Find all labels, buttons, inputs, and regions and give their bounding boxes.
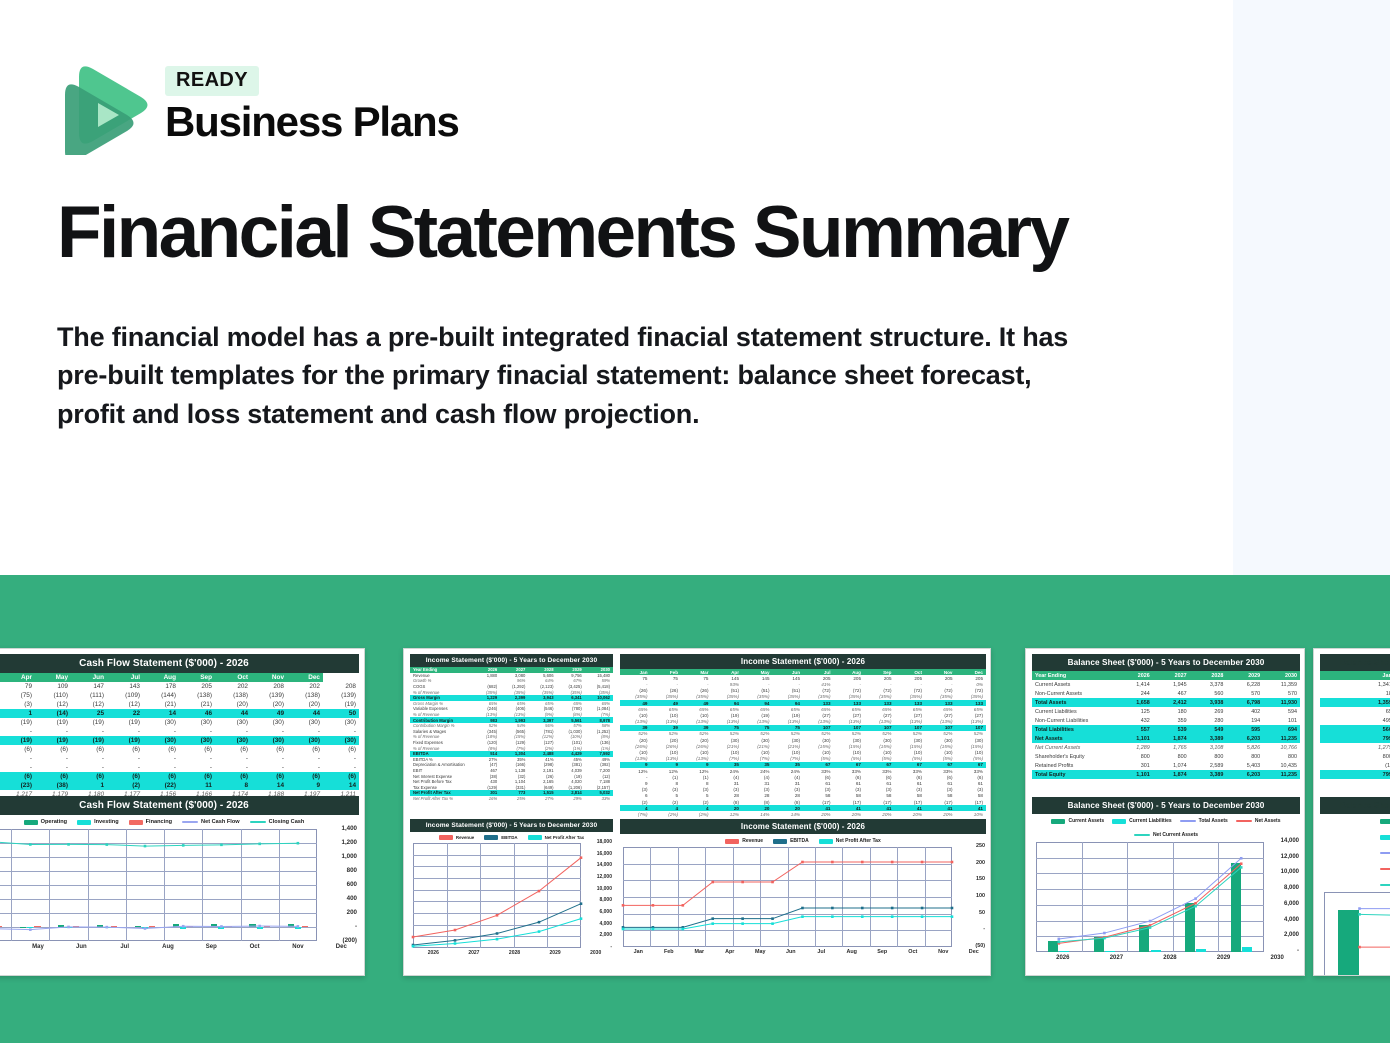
legend-swatch	[484, 835, 498, 840]
x-axis-tick-label: 2030	[1250, 955, 1304, 961]
y-axis-tick-label: 600	[320, 881, 357, 888]
legend-item: Net Cash Flow	[182, 819, 240, 825]
income-2026-chart-legend: RevenueEBITDANet Profit After Tax	[620, 838, 986, 844]
page-subtitle: The financial model has a pre-built inte…	[57, 318, 1087, 433]
x-axis-tick-label: 2029	[535, 950, 576, 956]
x-axis-tick-label: 2029	[1197, 955, 1251, 961]
legend-swatch	[129, 820, 143, 825]
y-axis-tick-label: 8,000	[584, 897, 612, 903]
y-axis-tick-label: 4,000	[584, 921, 612, 927]
y-axis-tick-label: 50	[955, 910, 985, 916]
balance-table-title: Balance Sheet ($'000) - 5 Years to Decem…	[1032, 654, 1300, 671]
x-axis-tick-label: Dec	[320, 944, 363, 950]
legend-swatch	[1380, 819, 1390, 824]
legend-swatch	[24, 820, 38, 825]
balance-monthly-chart-title: Balance Sheet ($'000) - 2026	[1320, 797, 1390, 814]
legend-label: EBITDA	[501, 835, 517, 840]
balance-monthly-chart-plot	[1324, 892, 1390, 976]
legend-item: Net Assets	[1380, 866, 1390, 872]
legend-swatch	[1380, 835, 1390, 840]
balance-chart-legend: Current AssetsCurrent LiabilitiesTotal A…	[1032, 818, 1300, 838]
table-header-row: JanFeb	[1320, 671, 1390, 680]
brand-name: Business Plans	[165, 100, 459, 144]
x-axis-tick-label: 2026	[1036, 955, 1090, 961]
y-axis-tick-label: 400	[320, 895, 357, 902]
legend-item: Net Current Assets	[1134, 832, 1198, 838]
legend-swatch	[1112, 819, 1126, 824]
x-axis-tick-label: Nov	[276, 944, 319, 950]
income-2026-x-axis-labels: JanFebMarAprMayJunJulAugSepOctNovDec	[623, 949, 989, 955]
x-axis-tick-label: Oct	[233, 944, 276, 950]
y-axis-tick-label: -	[320, 923, 357, 930]
income-statement-screenshot-card[interactable]: Income Statement ($'000) - 5 Years to De…	[403, 648, 991, 976]
x-axis-tick-label: 2028	[1143, 955, 1197, 961]
legend-swatch	[773, 839, 787, 844]
legend-item: Revenue	[725, 838, 763, 844]
table-row: 495480	[1320, 716, 1390, 725]
x-axis-tick-label: Jul	[806, 949, 837, 955]
y-axis-tick-label: 1,400	[320, 825, 357, 832]
y-axis-tick-label: (200)	[320, 937, 357, 944]
legend-item: Current Liabilities	[1112, 818, 1172, 824]
income-5yr-chart-legend: RevenueEBITDANet Profit After Tax	[410, 835, 613, 840]
table-row: 1836	[1320, 689, 1390, 698]
balance-monthly-table-title: Balance Sheet ($'000) - 2026	[1320, 654, 1390, 671]
table-row: 6572	[1320, 707, 1390, 716]
y-axis-tick-label: 14,000	[584, 862, 612, 868]
table-row: 79109147143178205202208202208	[0, 682, 359, 691]
legend-label: Net Current Assets	[1153, 832, 1198, 838]
x-axis-tick-label: May	[745, 949, 776, 955]
x-axis-tick-label: Mar	[684, 949, 715, 955]
income-5yr-x-axis-labels: 20262027202820292030	[413, 950, 616, 956]
table-row: 1(14)2522144644494450	[0, 709, 359, 718]
y-axis-tick-label: 6,000	[1267, 901, 1299, 907]
x-axis-tick-label: Jun	[60, 944, 103, 950]
legend-swatch	[1051, 819, 1065, 824]
x-axis-tick-label: Feb	[654, 949, 685, 955]
chart-series-lines	[0, 829, 317, 941]
table-row: ----------	[0, 727, 359, 736]
legend-swatch	[182, 821, 198, 823]
table-row: (75)(110)(111)(109)(144)(138)(138)(139)(…	[0, 691, 359, 700]
legend-item: Closing Cash	[250, 819, 305, 825]
balance-x-axis-labels: 20262027202820292030	[1036, 955, 1304, 961]
y-axis-tick-label: 6,000	[584, 909, 612, 915]
y-axis-tick-label: 200	[320, 909, 357, 916]
hero-section: READY Business Plans Financial Statement…	[0, 0, 1390, 575]
x-axis-tick-label: Sep	[867, 949, 898, 955]
x-axis-tick-label: Apr	[0, 944, 16, 950]
income2026-chart-title: Income Statement ($'000) - 2026	[620, 819, 986, 834]
legend-item: EBITDA	[773, 838, 809, 844]
table-row: Total Equity1,1011,8743,3896,20311,235	[1032, 770, 1300, 779]
table-row: 800800	[1320, 752, 1390, 761]
income-2026-table: JanFebMarAprMayJunJulAugSepOctNovDec7575…	[620, 669, 986, 818]
x-axis-tick-label: Apr	[715, 949, 746, 955]
legend-label: Total Assets	[1199, 818, 1228, 824]
legend-item: Financing	[129, 819, 172, 825]
legend-label: Net Profit After Tax	[545, 835, 585, 840]
cash-flow-table: AprMayJunJulAugSepOctNovDec7910914714317…	[0, 673, 359, 799]
x-axis-tick-label: Jul	[103, 944, 146, 950]
balance-chart-plot: 14,00012,00010,0008,0006,0004,0002,000-	[1036, 842, 1264, 952]
table-header-row: AprMayJunJulAugSepOctNovDec	[0, 673, 359, 682]
table-row: 560561	[1320, 725, 1390, 734]
legend-label: Financing	[146, 819, 172, 825]
balance-sheet-table: Year Ending20262027202820292030Current A…	[1032, 671, 1300, 779]
legend-swatch	[1380, 884, 1390, 886]
brand-text: READY Business Plans	[165, 66, 459, 144]
legend-swatch	[250, 821, 266, 823]
cash-flow-chart-plot: 1,4001,2001,000800600400200-(200)	[0, 829, 317, 941]
y-axis-tick-label: 10,000	[1267, 869, 1299, 875]
x-axis-tick-label: Aug	[146, 944, 189, 950]
legend-item: Net Profit After Tax	[528, 835, 585, 840]
page-title: Financial Statements Summary	[57, 196, 1067, 269]
x-axis-tick-label: 2026	[413, 950, 454, 956]
legend-label: Net Cash Flow	[201, 819, 240, 825]
table-row: 1,3411,323	[1320, 680, 1390, 689]
legend-item: Net Current Assets	[1380, 882, 1390, 888]
x-axis-tick-label: Oct	[898, 949, 929, 955]
table-row: (1)(2)	[1320, 761, 1390, 770]
table-row: Non-Current Liabilities432359280194101	[1032, 716, 1300, 725]
table-row: 1,3591,359	[1320, 698, 1390, 707]
legend-label: Net Profit After Tax	[836, 838, 881, 844]
y-axis-tick-label: 2,000	[1267, 932, 1299, 938]
balance-sheet-screenshot-card[interactable]: Balance Sheet ($'000) - 5 Years to Decem…	[1025, 648, 1305, 976]
brand-logo-block: READY Business Plans	[57, 55, 459, 155]
legend-item: EBITDA	[484, 835, 517, 840]
legend-swatch	[439, 835, 453, 840]
legend-item: Net Profit After Tax	[819, 838, 881, 844]
play-triangle-logo-icon	[57, 55, 149, 155]
legend-swatch	[1380, 868, 1390, 870]
legend-item: Total Assets	[1180, 818, 1228, 824]
table-row: (23)(38)1(2)(22)11814914	[0, 781, 359, 790]
table-row: 799798	[1320, 770, 1390, 779]
legend-item: Current Liabilities	[1380, 834, 1390, 840]
table-row: Shareholder's Equity800800800800800	[1032, 752, 1300, 761]
table-row: Non-Current Assets244467560570570	[1032, 689, 1300, 698]
balance-monthly-table: JanFeb1,3411,32318361,3591,3596572495480…	[1320, 671, 1390, 779]
y-axis-tick-label: 8,000	[1267, 885, 1299, 891]
legend-swatch	[819, 839, 833, 844]
x-axis-tick-label: 2027	[454, 950, 495, 956]
table-row: ----------	[0, 763, 359, 772]
table-row: Net Assets1,1011,8743,3896,20311,235	[1032, 734, 1300, 743]
table-row: Total Assets1,6582,4123,9386,79811,930	[1032, 698, 1300, 707]
legend-swatch	[1380, 852, 1390, 854]
table-row: Net Current Assets1,2891,7653,1085,82610…	[1032, 743, 1300, 752]
legend-label: Revenue	[742, 838, 763, 844]
y-axis-tick-label: 16,000	[584, 851, 612, 857]
legend-label: Net Assets	[1255, 818, 1281, 824]
x-axis-tick-label: 2030	[575, 950, 616, 956]
chart-series-lines	[1324, 892, 1390, 976]
y-axis-tick-label: 4,000	[1267, 917, 1299, 923]
legend-label: Closing Cash	[269, 819, 305, 825]
table-row: (6)(6)(6)(6)(6)(6)(6)(6)(6)(6)	[0, 745, 359, 754]
x-axis-tick-label: 2027	[1090, 955, 1144, 961]
table-row: (7%)(2%)(2%)12%14%14%20%20%20%20%20%10%	[620, 811, 986, 817]
income2026-table-title: Income Statement ($'000) - 2026	[620, 654, 986, 669]
balance-monthly-chart-legend: Current AssetsCurrent LiabilitiesTotal A…	[1320, 818, 1390, 888]
legend-item: Investing	[77, 819, 119, 825]
y-axis-tick-label: 1,200	[320, 839, 357, 846]
x-axis-tick-label: May	[16, 944, 59, 950]
table-row: 799798	[1320, 734, 1390, 743]
table-row: Net Profit After Tax %16%25%27%29%33%	[410, 796, 613, 802]
legend-item: Net Assets	[1236, 818, 1281, 824]
legend-label: EBITDA	[790, 838, 809, 844]
table-header-row: Year Ending20262027202820292030	[1032, 671, 1300, 680]
cash-flow-chart-legend: OperatingInvestingFinancingNet Cash Flow…	[0, 819, 359, 825]
legend-swatch	[1180, 820, 1196, 822]
legend-swatch	[528, 835, 542, 840]
x-axis-tick-label: Sep	[190, 944, 233, 950]
table-row: Total Liabilities557539549595694	[1032, 725, 1300, 734]
table-row: Retained Profits3011,0742,5895,40310,435	[1032, 761, 1300, 770]
y-axis-tick-label: -	[1267, 948, 1299, 954]
table-row: ----------	[0, 754, 359, 763]
table-row: (19)(19)(19)(19)(30)(30)(30)(30)(30)(30)	[0, 718, 359, 727]
table-row: (6)(6)(6)(6)(6)(6)(6)(6)(6)(6)	[0, 772, 359, 781]
x-axis-tick-label: Aug	[837, 949, 868, 955]
cashflow-chart-title: Cash Flow Statement ($'000) - 2026	[0, 796, 359, 815]
legend-label: Operating	[41, 819, 67, 825]
y-axis-tick-label: 12,000	[1267, 854, 1299, 860]
balance-sheet-monthly-screenshot-card[interactable]: Balance Sheet ($'000) - 2026 JanFeb1,341…	[1313, 648, 1390, 976]
y-axis-tick-label: 14,000	[1267, 838, 1299, 844]
y-axis-tick-label: 800	[320, 867, 357, 874]
legend-swatch	[1134, 834, 1150, 836]
y-axis-tick-label: 18,000	[584, 839, 612, 845]
income5-chart-title: Income Statement ($'000) - 5 Years to De…	[410, 819, 613, 832]
legend-swatch	[1236, 820, 1252, 822]
table-row: (19)(19)(19)(19)(30)(30)(30)(30)(30)(30)	[0, 736, 359, 745]
y-axis-tick-label: 1,000	[320, 853, 357, 860]
legend-label: Current Liabilities	[1129, 818, 1172, 824]
income-5yr-table: Year Ending20262027202820292030Revenue1,…	[410, 667, 613, 801]
chart-series-lines	[1036, 842, 1264, 952]
income-2026-chart-plot: 25020015010050-(50)	[623, 847, 952, 947]
legend-label: Current Assets	[1068, 818, 1104, 824]
table-row: (3)(12)(12)(12)(21)(21)(20)(20)(20)(19)	[0, 700, 359, 709]
y-axis-tick-label: 12,000	[584, 874, 612, 880]
y-axis-tick-label: 200	[955, 860, 985, 866]
legend-item: Current Assets	[1051, 818, 1104, 824]
screenshot-cards-strip: Cash Flow Statement ($'000) - 2026 AprMa…	[0, 648, 1390, 976]
table-row: Current Liabilities125180269402594	[1032, 707, 1300, 716]
legend-item: Operating	[24, 819, 67, 825]
x-axis-tick-label: Jun	[776, 949, 807, 955]
y-axis-tick-label: 250	[955, 843, 985, 849]
x-axis-tick-label: 2028	[494, 950, 535, 956]
legend-item: Revenue	[439, 835, 474, 840]
x-axis-tick-label: Dec	[959, 949, 990, 955]
balance-chart-title: Balance Sheet ($'000) - 5 Years to Decem…	[1032, 797, 1300, 814]
legend-label: Revenue	[456, 835, 474, 840]
ready-badge: READY	[165, 66, 259, 96]
y-axis-tick-label: 150	[955, 876, 985, 882]
income5-table-title: Income Statement ($'000) - 5 Years to De…	[410, 654, 613, 667]
legend-item: Total Assets	[1380, 850, 1390, 856]
legend-swatch	[725, 839, 739, 844]
x-axis-tick-label: Nov	[928, 949, 959, 955]
chart-series-lines	[623, 847, 952, 947]
cash-flow-x-axis-labels: AprMayJunJulAugSepOctNovDec	[0, 944, 363, 950]
y-axis-tick-label: 10,000	[584, 886, 612, 892]
cashflow-table-title: Cash Flow Statement ($'000) - 2026	[0, 654, 359, 673]
table-row: 1,2751,251	[1320, 743, 1390, 752]
cash-flow-screenshot-card[interactable]: Cash Flow Statement ($'000) - 2026 AprMa…	[0, 648, 365, 976]
y-axis-tick-label: 2,000	[584, 932, 612, 938]
legend-label: Investing	[94, 819, 119, 825]
table-row: Current Assets1,4141,9453,3786,22811,359	[1032, 680, 1300, 689]
y-axis-tick-label: -	[955, 926, 985, 932]
legend-swatch	[77, 820, 91, 825]
income-5yr-chart-plot: 18,00016,00014,00012,00010,0008,0006,000…	[413, 843, 581, 948]
chart-series-lines	[413, 843, 581, 948]
y-axis-tick-label: 100	[955, 893, 985, 899]
legend-item: Current Assets	[1380, 818, 1390, 824]
x-axis-tick-label: Jan	[623, 949, 654, 955]
